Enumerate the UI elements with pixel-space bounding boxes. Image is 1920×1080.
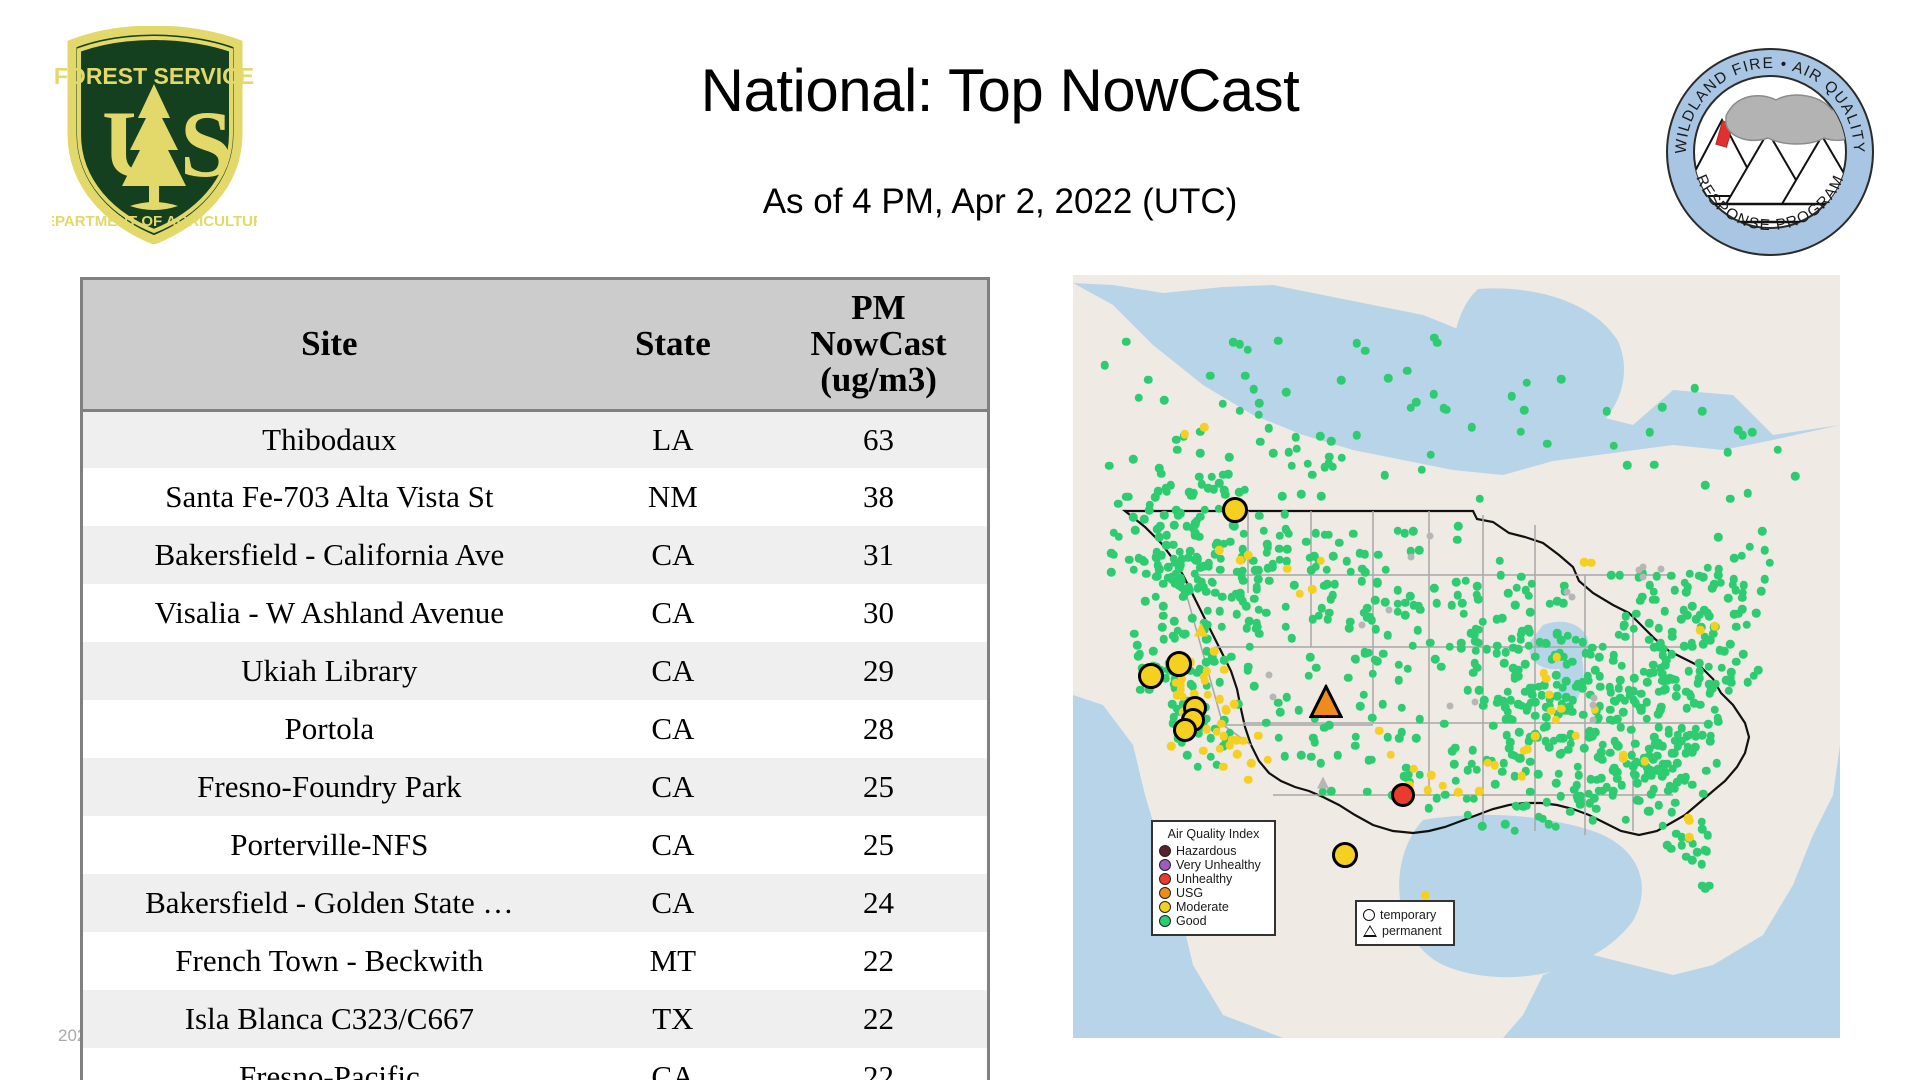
- monitor-dot: [1329, 552, 1338, 561]
- monitor-dot: [1421, 891, 1430, 900]
- monitor-dot: [1314, 611, 1323, 620]
- usda-forest-service-logo: FOREST SERVICE U S DEPARTMENT OF AGRICUL…: [52, 26, 257, 244]
- monitor-dot: [1269, 449, 1278, 458]
- site-cell: French Town - Beckwith: [83, 932, 576, 990]
- monitor-dot: [1255, 399, 1264, 408]
- slide-canvas: FOREST SERVICE U S DEPARTMENT OF AGRICUL…: [0, 0, 1920, 1080]
- monitor-dot: [1288, 634, 1297, 643]
- monitor-dot: [1630, 696, 1639, 705]
- state-cell: CA: [576, 874, 770, 932]
- monitor-dot: [1717, 579, 1726, 588]
- monitor-dot: [1107, 568, 1116, 577]
- monitor-dot: [1616, 676, 1625, 685]
- table-body: ThibodauxLA63Santa Fe-703 Alta Vista StN…: [83, 410, 987, 1080]
- monitor-dot: [1738, 593, 1747, 602]
- table-row[interactable]: Bakersfield - Golden State …CA24: [83, 874, 987, 932]
- state-cell: MT: [576, 932, 770, 990]
- table-row[interactable]: Fresno-PacificCA22: [83, 1048, 987, 1080]
- state-cell: LA: [576, 410, 770, 468]
- monitor-dot: [1703, 563, 1712, 572]
- monitor-dot: [1621, 697, 1630, 706]
- monitor-dot: [1609, 787, 1618, 796]
- monitor-dot: [1522, 706, 1531, 715]
- monitor-dot: [1297, 751, 1306, 760]
- monitor-dot: [1627, 725, 1636, 734]
- monitor-dot: [1255, 566, 1264, 575]
- aqi-color-swatch: [1159, 859, 1171, 871]
- monitor-dot: [1157, 470, 1166, 479]
- monitor-dot: [1685, 833, 1694, 842]
- column-header-state[interactable]: State: [576, 280, 770, 410]
- monitor-dot: [1726, 494, 1735, 503]
- monitor-dot: [1208, 579, 1217, 588]
- monitor-dot: [1363, 788, 1372, 797]
- highlighted-monitor-dot[interactable]: [1166, 651, 1192, 677]
- monitor-dot: [1242, 602, 1251, 611]
- monitor-dot: [1254, 731, 1263, 740]
- monitor-dot: [1646, 581, 1655, 590]
- monitor-dot: [1597, 774, 1606, 783]
- highlighted-monitor-triangle[interactable]: [1309, 685, 1343, 724]
- table-row[interactable]: Visalia - W Ashland AvenueCA30: [83, 584, 987, 642]
- monitor-dot: [1256, 437, 1265, 446]
- highlighted-monitor-dot[interactable]: [1173, 718, 1197, 742]
- monitor-dot: [1521, 586, 1530, 595]
- highlighted-monitor-dot[interactable]: [1391, 783, 1415, 807]
- monitor-dot: [1409, 641, 1418, 650]
- monitor-dot: [1162, 531, 1171, 540]
- monitor-dot: [1557, 375, 1566, 384]
- table-row[interactable]: Santa Fe-703 Alta Vista StNM38: [83, 468, 987, 526]
- monitor-dot: [1168, 573, 1177, 582]
- monitor-dot: [1525, 641, 1534, 650]
- monitor-dot: [1227, 653, 1236, 662]
- aqi-color-swatch: [1159, 901, 1171, 913]
- monitor-dot: [1382, 565, 1391, 574]
- monitor-dot: [1351, 733, 1360, 742]
- monitor-dot: [1684, 814, 1693, 823]
- monitor-dot: [1280, 752, 1289, 761]
- monitor-dot: [1493, 649, 1502, 658]
- monitor-dot: [1688, 781, 1697, 790]
- monitor-dot: [1706, 636, 1715, 645]
- legend-row-permanent: permanent: [1363, 923, 1447, 939]
- monitor-dot: [1708, 584, 1717, 593]
- legend-label-permanent: permanent: [1382, 923, 1442, 939]
- monitor-dot: [1141, 597, 1150, 606]
- table-row[interactable]: French Town - BeckwithMT22: [83, 932, 987, 990]
- monitor-dot: [1356, 702, 1365, 711]
- monitor-dot: [1269, 693, 1276, 700]
- monitor-dot: [1552, 671, 1561, 680]
- table-row[interactable]: Bakersfield - California AveCA31: [83, 526, 987, 584]
- monitor-dot: [1190, 531, 1199, 540]
- monitor-dot: [1149, 647, 1158, 656]
- monitor-dot: [1586, 775, 1595, 784]
- table-row[interactable]: ThibodauxLA63: [83, 410, 987, 468]
- monitor-dot: [1133, 641, 1142, 650]
- monitor-dot: [1249, 385, 1258, 394]
- monitor-dot: [1174, 511, 1183, 520]
- monitor-dot: [1226, 537, 1235, 546]
- monitor-dot: [1704, 720, 1713, 729]
- monitor-dot: [1122, 338, 1131, 347]
- monitor-dot: [1552, 779, 1561, 788]
- monitor-dot: [1614, 684, 1623, 693]
- aqi-legend-label: Very Unhealthy: [1176, 858, 1261, 872]
- monitor-dot: [1452, 776, 1461, 785]
- monitor-dot: [1202, 725, 1211, 734]
- monitor-dot: [1587, 558, 1596, 567]
- monitor-dot: [1151, 553, 1160, 562]
- monitor-dot: [1250, 682, 1259, 691]
- monitor-dot: [1642, 715, 1651, 724]
- monitor-dot: [1230, 700, 1239, 709]
- nowcast-table-container: Site State PM NowCast (ug/m3) ThibodauxL…: [80, 277, 990, 1080]
- monitor-dot: [1305, 553, 1314, 562]
- monitor-dot: [1250, 595, 1259, 604]
- monitor-dot: [1469, 794, 1478, 803]
- monitor-dot: [1446, 642, 1455, 651]
- monitor-dot: [1698, 881, 1707, 890]
- monitor-dot: [1650, 461, 1659, 470]
- monitor-dot: [1416, 715, 1425, 724]
- monitor-dot: [1312, 529, 1321, 538]
- monitor-dot: [1171, 559, 1180, 568]
- monitor-dot: [1619, 750, 1628, 759]
- monitor-dot: [1278, 492, 1287, 501]
- monitor-dot: [1244, 775, 1253, 784]
- monitor-dot: [1573, 762, 1582, 771]
- monitor-dot: [1130, 630, 1139, 639]
- monitor-dot: [1424, 786, 1433, 795]
- table-row[interactable]: Porterville-NFSCA25: [83, 816, 987, 874]
- monitor-dot: [1219, 732, 1228, 741]
- monitor-dot: [1173, 446, 1182, 455]
- monitor-dot: [1715, 646, 1724, 655]
- highlighted-monitor-dot[interactable]: [1138, 663, 1164, 689]
- table-row[interactable]: Ukiah LibraryCA29: [83, 642, 987, 700]
- monitor-dot: [1236, 556, 1245, 565]
- monitor-dot: [1671, 799, 1680, 808]
- monitor-dot: [1407, 403, 1416, 412]
- monitor-dot: [1454, 788, 1463, 797]
- header-site-line1: Site: [301, 324, 357, 363]
- monitor-dot: [1138, 556, 1147, 565]
- monitor-dot: [1447, 703, 1454, 710]
- monitor-dot: [1631, 740, 1640, 749]
- monitor-dot: [1378, 700, 1387, 709]
- monitor-dot: [1255, 629, 1264, 638]
- monitor-dot: [1623, 461, 1632, 470]
- monitor-dot: [1323, 615, 1332, 624]
- monitor-dot: [1254, 575, 1263, 584]
- monitor-dot: [1371, 596, 1380, 605]
- value-cell: 22: [770, 932, 987, 990]
- monitor-dot: [1474, 595, 1483, 604]
- monitor-dot: [1585, 799, 1594, 808]
- monitor-dot: [1473, 664, 1482, 673]
- monitor-dot: [1628, 751, 1637, 760]
- monitor-dot: [1658, 772, 1667, 781]
- monitor-dot: [1579, 711, 1588, 720]
- monitor-dot: [1160, 396, 1169, 405]
- monitor-dot: [1122, 492, 1131, 501]
- monitor-dot: [1204, 691, 1213, 700]
- monitor-dot: [1635, 797, 1644, 806]
- header-pm-line2: NowCast: [774, 326, 983, 362]
- monitor-dot: [1317, 556, 1326, 565]
- table-row[interactable]: Fresno-Foundry ParkCA25: [83, 758, 987, 816]
- column-header-pm-nowcast[interactable]: PM NowCast (ug/m3): [770, 280, 987, 410]
- monitor-dot: [1381, 598, 1390, 607]
- monitor-dot: [1457, 639, 1466, 648]
- monitor-dot: [1482, 645, 1491, 654]
- monitor-dot: [1598, 642, 1607, 651]
- monitor-dot: [1283, 693, 1292, 702]
- monitor-dot: [1262, 718, 1271, 727]
- monitor-dot: [1591, 694, 1598, 701]
- state-cell: NM: [576, 468, 770, 526]
- monitor-dot: [1774, 445, 1783, 454]
- monitor-dot: [1210, 647, 1219, 656]
- monitor-dot: [1643, 678, 1652, 687]
- monitor-dot: [1439, 781, 1448, 790]
- monitor-dot: [1512, 584, 1521, 593]
- monitor-dot: [1450, 760, 1459, 769]
- value-cell: 28: [770, 700, 987, 758]
- monitor-dot: [1215, 678, 1224, 687]
- monitor-dot: [1671, 785, 1680, 794]
- monitor-dot: [1375, 727, 1384, 736]
- monitor-dot: [1504, 589, 1513, 598]
- aqi-legend-row: Very Unhealthy: [1159, 858, 1268, 872]
- monitor-dot: [1201, 676, 1210, 685]
- monitor-dot: [1671, 737, 1680, 746]
- monitor-dot: [1142, 569, 1151, 578]
- site-cell: Porterville-NFS: [83, 816, 576, 874]
- monitor-dot: [1707, 685, 1716, 694]
- monitor-dot: [1297, 490, 1306, 499]
- monitor-dot: [1702, 847, 1711, 856]
- monitor-dot: [1352, 431, 1361, 440]
- monitor-dot: [1645, 619, 1654, 628]
- monitor-dot: [1159, 612, 1168, 621]
- monitor-dot: [1732, 622, 1741, 631]
- monitor-dot: [1572, 732, 1581, 741]
- monitor-dot: [1603, 407, 1612, 416]
- monitor-dot: [1589, 816, 1598, 825]
- monitor-dot: [1114, 499, 1123, 508]
- monitor-dot: [1467, 423, 1476, 432]
- table-row[interactable]: PortolaCA28: [83, 700, 987, 758]
- monitor-dot: [1563, 631, 1572, 640]
- monitor-dot: [1158, 623, 1167, 632]
- monitor-dot: [1186, 547, 1195, 556]
- monitor-dot: [1621, 633, 1630, 642]
- monitor-dot: [1433, 338, 1442, 347]
- monitor-dot: [1129, 513, 1138, 522]
- monitor-dot: [1515, 728, 1524, 737]
- column-header-site[interactable]: Site: [83, 280, 576, 410]
- monitor-dot: [1498, 768, 1507, 777]
- monitor-dot: [1545, 690, 1554, 699]
- value-cell: 25: [770, 758, 987, 816]
- monitor-dot: [1557, 704, 1566, 713]
- monitor-dot: [1596, 682, 1605, 691]
- monitor-dot: [1640, 774, 1649, 783]
- monitor-dot: [1187, 680, 1196, 689]
- monitor-dot: [1696, 626, 1705, 635]
- monitor-dot: [1306, 653, 1315, 662]
- monitor-dot: [1553, 681, 1562, 690]
- monitor-dot: [1412, 734, 1421, 743]
- monitor-dot: [1464, 686, 1473, 695]
- monitor-dot: [1566, 808, 1575, 817]
- monitor-dot: [1186, 491, 1195, 500]
- monitor-dot: [1409, 527, 1418, 536]
- monitor-dot: [1574, 771, 1583, 780]
- monitor-dot: [1655, 640, 1664, 649]
- monitor-dot: [1135, 650, 1144, 659]
- monitor-dot: [1325, 530, 1334, 539]
- monitor-dot: [1140, 515, 1149, 524]
- logo-bottom-text: DEPARTMENT OF AGRICULTURE: [52, 213, 257, 230]
- monitor-dot: [1658, 565, 1665, 572]
- monitor-dot: [1437, 663, 1446, 672]
- monitor-dot: [1109, 529, 1118, 538]
- table-header-row: Site State PM NowCast (ug/m3): [83, 280, 987, 410]
- monitor-dot: [1499, 759, 1508, 768]
- monitor-dot: [1534, 683, 1543, 692]
- monitor-dot: [1584, 790, 1593, 799]
- page-subtitle: As of 4 PM, Apr 2, 2022 (UTC): [380, 182, 1620, 222]
- monitor-dot: [1661, 685, 1670, 694]
- monitor-dot: [1282, 603, 1291, 612]
- monitor-dot: [1162, 487, 1171, 496]
- monitor-dot: [1360, 609, 1369, 618]
- monitor-dot: [1526, 788, 1535, 797]
- aqi-legend-label: Hazardous: [1176, 844, 1236, 858]
- monitor-dot: [1241, 371, 1250, 380]
- monitor-dot: [1693, 848, 1702, 857]
- monitor-dot: [1275, 545, 1284, 554]
- monitor-dot: [1639, 573, 1646, 580]
- monitor-dot: [1553, 653, 1562, 662]
- monitor-dot: [1215, 695, 1224, 704]
- monitor-dot: [1724, 594, 1733, 603]
- monitor-dot: [1501, 820, 1510, 829]
- monitor-dot: [1395, 661, 1404, 670]
- monitor-dot: [1202, 667, 1211, 676]
- monitor-dot: [1309, 733, 1318, 742]
- aqi-legend-row: Unhealthy: [1159, 872, 1268, 886]
- monitor-dot: [1283, 545, 1292, 554]
- monitor-dot: [1125, 555, 1134, 564]
- monitor-dot: [1358, 621, 1365, 628]
- monitor-dot: [1672, 683, 1681, 692]
- monitor-dot: [1386, 607, 1393, 614]
- monitor-dot: [1531, 653, 1540, 662]
- site-cell: Thibodaux: [83, 410, 576, 468]
- monitor-dot: [1583, 672, 1592, 681]
- monitor-dot: [1522, 379, 1531, 388]
- monitor-dot: [1373, 657, 1382, 666]
- monitor-dot: [1673, 759, 1682, 768]
- monitor-dot: [1698, 731, 1707, 740]
- monitor-dot: [1131, 526, 1140, 535]
- monitor-dot: [1401, 529, 1410, 538]
- monitor-dot: [1335, 539, 1344, 548]
- monitor-dot: [1499, 697, 1508, 706]
- monitor-dot: [1621, 815, 1630, 824]
- monitor-dot: [1503, 707, 1512, 716]
- monitor-dot: [1618, 662, 1627, 671]
- monitor-dot: [1554, 769, 1563, 778]
- monitor-dot: [1408, 553, 1415, 560]
- monitor-dot: [1611, 697, 1620, 706]
- monitor-dot: [1320, 581, 1329, 590]
- legend-label-temporary: temporary: [1380, 907, 1436, 923]
- monitor-dot: [1359, 691, 1368, 700]
- monitor-dot: [1401, 611, 1410, 620]
- state-cell: CA: [576, 700, 770, 758]
- monitor-dot: [1206, 371, 1215, 380]
- monitor-dot: [1659, 821, 1668, 830]
- monitor-dot: [1265, 577, 1274, 586]
- monitor-dot: [1170, 521, 1179, 530]
- monitor-dot: [1288, 462, 1297, 471]
- monitor-dot: [1236, 589, 1245, 598]
- monitor-dot: [1491, 780, 1500, 789]
- page-title: National: Top NowCast: [380, 58, 1620, 124]
- monitor-dot: [1534, 770, 1543, 779]
- monitor-dot: [1374, 551, 1383, 560]
- monitor-dot: [1515, 646, 1524, 655]
- monitor-dot: [1379, 649, 1388, 658]
- monitor-dot: [1638, 592, 1647, 601]
- monitor-dot: [1216, 745, 1225, 754]
- monitor-dot: [1617, 723, 1626, 732]
- site-cell: Visalia - W Ashland Avenue: [83, 584, 576, 642]
- highlighted-monitor-dot[interactable]: [1332, 842, 1358, 868]
- site-cell: Fresno-Foundry Park: [83, 758, 576, 816]
- monitor-dot: [1556, 750, 1565, 759]
- monitor-dot: [1233, 750, 1242, 759]
- monitor-dot: [1386, 751, 1395, 760]
- monitor-dot: [1345, 624, 1354, 633]
- monitor-dot: [1283, 564, 1292, 573]
- monitor-dot: [1522, 802, 1531, 811]
- monitor-dot: [1129, 455, 1138, 464]
- monitor-dot: [1526, 684, 1535, 693]
- monitor-dot: [1698, 407, 1707, 416]
- logo-letter-s: S: [180, 91, 233, 197]
- monitor-dot: [1506, 715, 1515, 724]
- air-quality-monitor-map[interactable]: Air Quality Index HazardousVery Unhealth…: [1073, 275, 1840, 1038]
- monitor-dot: [1415, 546, 1424, 555]
- monitor-dot: [1170, 617, 1179, 626]
- monitor-dot: [1360, 647, 1369, 656]
- monitor-dot: [1181, 430, 1190, 439]
- monitor-dot: [1413, 626, 1422, 635]
- monitor-dot: [1668, 627, 1677, 636]
- table-row[interactable]: Isla Blanca C323/C667TX22: [83, 990, 987, 1048]
- monitor-dot: [1192, 517, 1201, 526]
- highlighted-monitor-dot[interactable]: [1222, 497, 1248, 523]
- monitor-dot: [1572, 683, 1581, 692]
- monitor-dot: [1403, 366, 1412, 375]
